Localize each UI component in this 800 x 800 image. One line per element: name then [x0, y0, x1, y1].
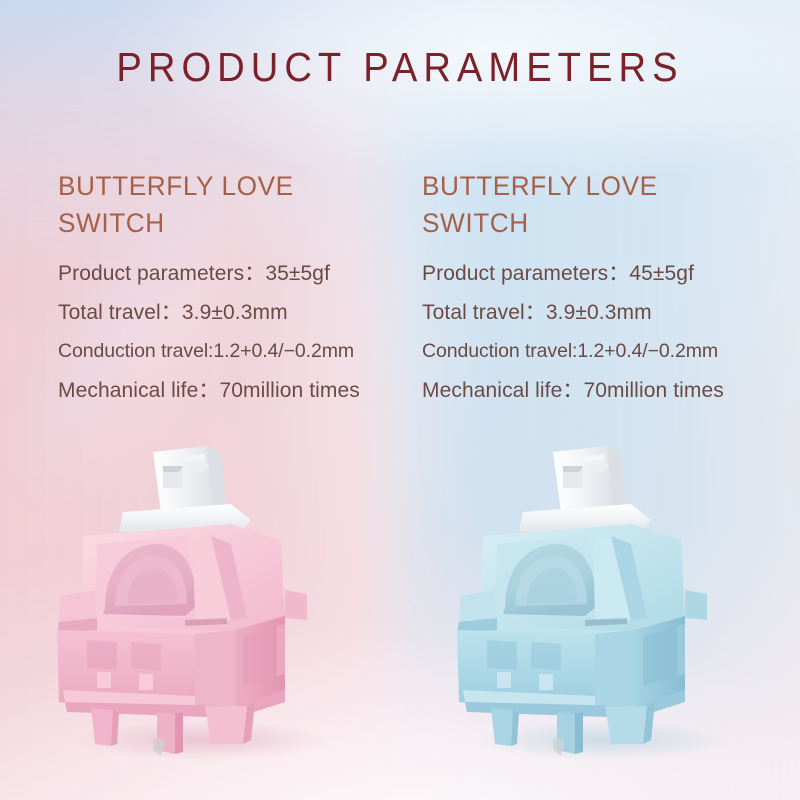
spec-value: 70million times	[220, 379, 360, 402]
spec-label: Mechanical life：	[422, 379, 584, 402]
spec-row-total-travel: Total travel：3.9±0.3mm	[422, 293, 800, 332]
spec-label: Total travel：	[422, 301, 546, 324]
spec-row-product-parameters: Product parameters：35±5gf	[58, 254, 400, 293]
pink-switch-image	[0, 432, 400, 800]
spec-value: 3.9±0.3mm	[182, 301, 288, 324]
spec-value: 70million times	[584, 379, 724, 402]
product-images	[0, 432, 800, 800]
switch-stem	[553, 446, 627, 512]
spec-label: Product parameters：	[58, 262, 265, 285]
spec-columns: BUTTERFLY LOVE SWITCH Product parameters…	[0, 168, 800, 410]
spec-label: Mechanical life：	[58, 379, 220, 402]
spec-list-pink: Product parameters：35±5gf Total travel：3…	[58, 254, 400, 410]
pink-mechanical-switch-illustration	[35, 440, 365, 770]
spec-row-product-parameters: Product parameters：45±5gf	[422, 254, 800, 293]
spec-value: 1.2+0.4/−0.2mm	[577, 340, 718, 362]
page-title: PRODUCT PARAMETERS	[28, 44, 772, 91]
spec-value: 45±5gf	[629, 262, 694, 285]
product-parameters-poster: PRODUCT PARAMETERS BUTTERFLY LOVE SWITCH…	[0, 0, 800, 800]
spec-list-blue: Product parameters：45±5gf Total travel：3…	[422, 254, 800, 410]
spec-row-conduction-travel: Conduction travel:1.2+0.4/−0.2mm	[422, 332, 800, 371]
switch-name-pink: BUTTERFLY LOVE SWITCH	[58, 168, 310, 242]
spec-value: 35±5gf	[265, 262, 330, 285]
spec-label: Conduction travel:	[422, 340, 577, 362]
spec-row-total-travel: Total travel：3.9±0.3mm	[58, 293, 400, 332]
blue-mechanical-switch-illustration	[435, 440, 765, 770]
spec-row-mechanical-life: Mechanical life：70million times	[58, 371, 400, 410]
switch-stem	[153, 446, 227, 512]
spec-row-conduction-travel: Conduction travel:1.2+0.4/−0.2mm	[58, 332, 400, 371]
spec-column-pink: BUTTERFLY LOVE SWITCH Product parameters…	[0, 168, 400, 410]
spec-label: Product parameters：	[422, 262, 629, 285]
spec-value: 3.9±0.3mm	[546, 301, 652, 324]
spec-label: Conduction travel:	[58, 340, 213, 362]
spec-label: Total travel：	[58, 301, 182, 324]
blue-switch-image	[400, 432, 800, 800]
spec-column-blue: BUTTERFLY LOVE SWITCH Product parameters…	[400, 168, 800, 410]
spec-row-mechanical-life: Mechanical life：70million times	[422, 371, 800, 410]
switch-name-blue: BUTTERFLY LOVE SWITCH	[422, 168, 674, 242]
spec-value: 1.2+0.4/−0.2mm	[213, 340, 354, 362]
